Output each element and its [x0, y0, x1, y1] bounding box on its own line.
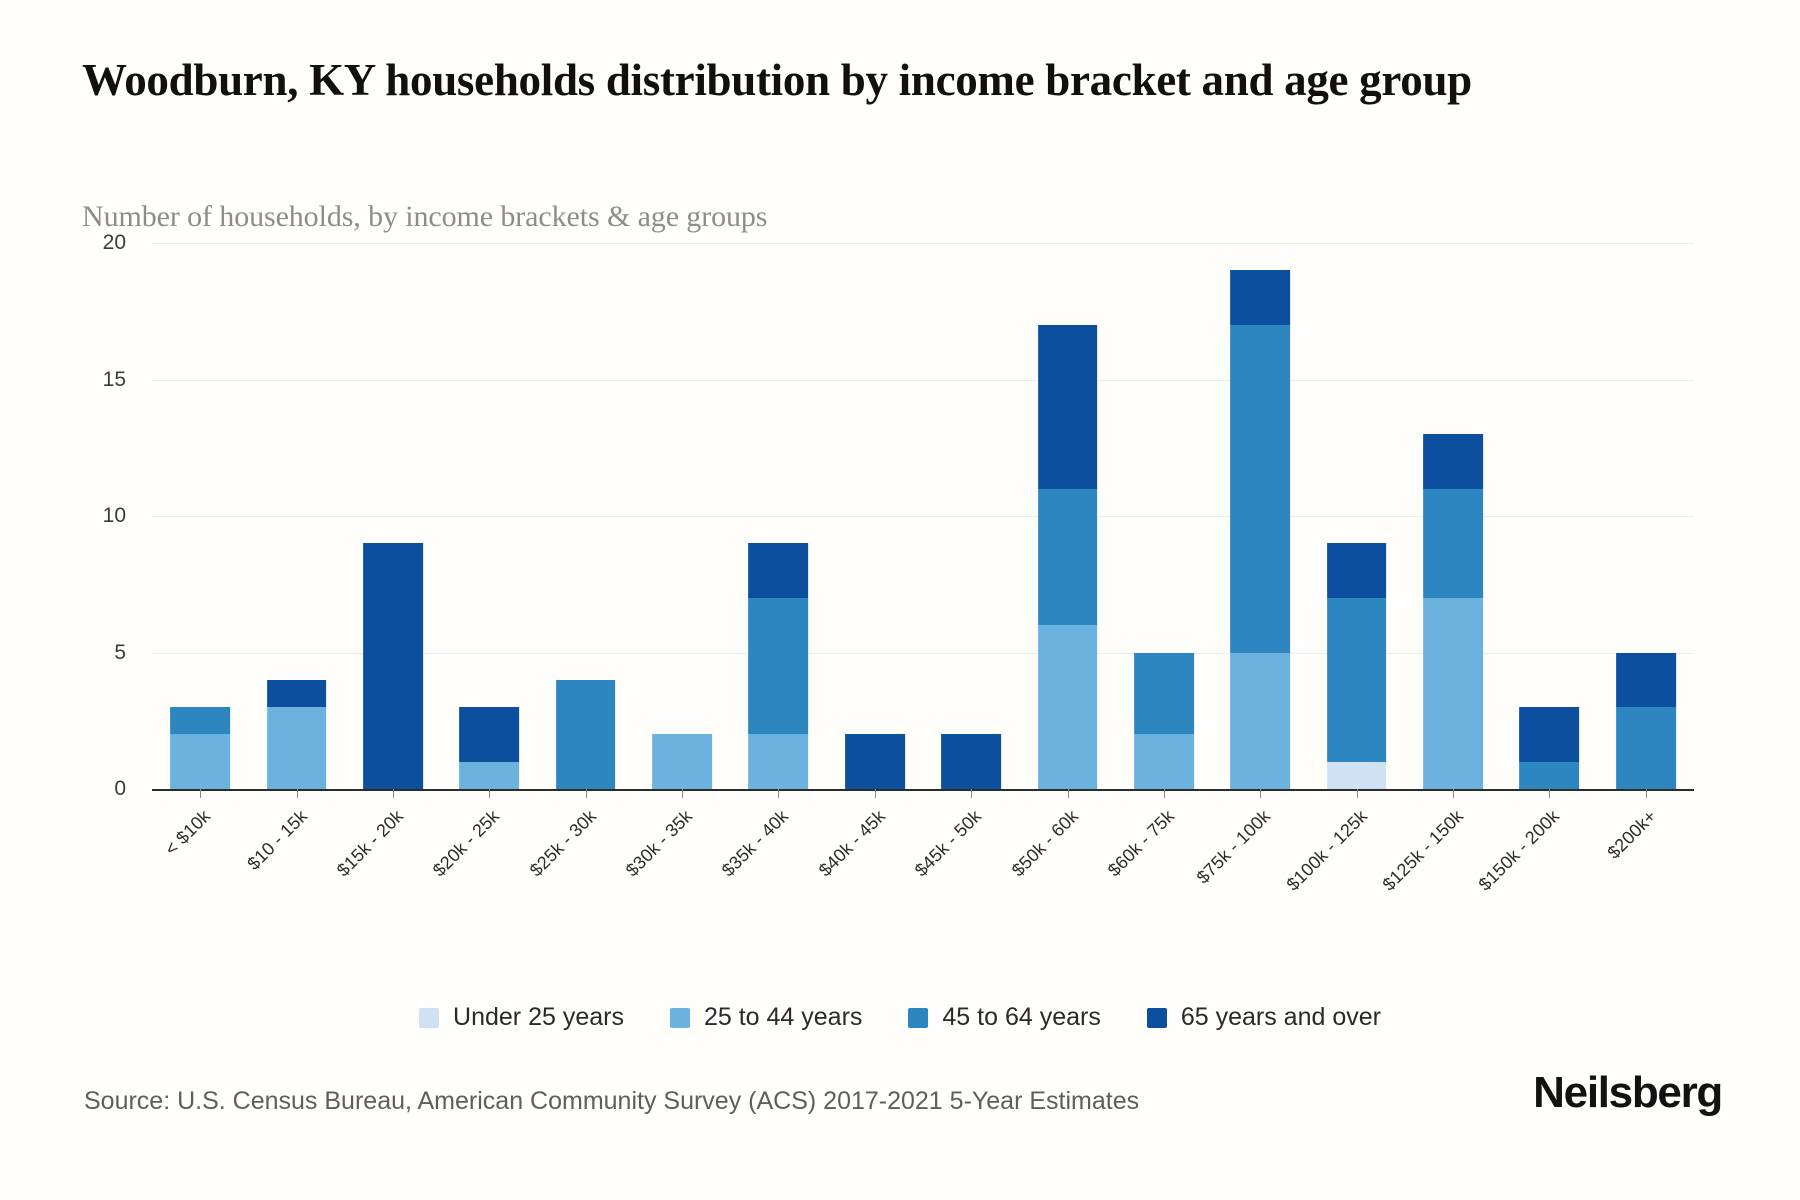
- bar-segment[interactable]: [1327, 543, 1387, 598]
- bar-segment[interactable]: [556, 680, 616, 789]
- x-axis-label-slot: $40k - 45k: [827, 800, 923, 910]
- bar-segment[interactable]: [267, 680, 327, 707]
- legend-label: Under 25 years: [453, 1003, 624, 1032]
- bar-segment[interactable]: [1134, 653, 1194, 735]
- y-tick-label: 0: [114, 777, 126, 801]
- x-axis-label: $20k - 25k: [429, 806, 504, 881]
- x-axis-label-slot: $45k - 50k: [923, 800, 1019, 910]
- bar-group[interactable]: [248, 243, 344, 789]
- bar-segment[interactable]: [1230, 270, 1290, 325]
- bar-stack[interactable]: [1616, 653, 1676, 789]
- bar-segment[interactable]: [1038, 625, 1098, 789]
- x-axis-label-slot: $20k - 25k: [441, 800, 537, 910]
- x-axis-label: $30k - 35k: [622, 806, 697, 881]
- legend-label: 65 years and over: [1181, 1003, 1381, 1032]
- bar-segment[interactable]: [652, 734, 712, 789]
- x-axis-labels: < $10k$10 - 15k$15k - 20k$20k - 25k$25k …: [152, 800, 1694, 910]
- bar-segment[interactable]: [1616, 653, 1676, 708]
- source-note: Source: U.S. Census Bureau, American Com…: [84, 1087, 1139, 1116]
- legend-swatch-icon: [670, 1008, 690, 1028]
- bar-segment[interactable]: [1134, 734, 1194, 789]
- y-tick-label: 10: [103, 504, 126, 528]
- bar-segment[interactable]: [363, 543, 423, 789]
- legend-item[interactable]: 25 to 44 years: [670, 1003, 862, 1032]
- bar-segment[interactable]: [749, 598, 809, 735]
- bar-segment[interactable]: [267, 707, 327, 789]
- bar-segment[interactable]: [459, 762, 519, 789]
- bar-stack[interactable]: [170, 707, 230, 789]
- bar-stack[interactable]: [1327, 543, 1387, 789]
- x-axis-label: < $10k: [161, 806, 215, 860]
- legend-swatch-icon: [1147, 1008, 1167, 1028]
- x-axis-label: $35k - 40k: [718, 806, 793, 881]
- bar-group[interactable]: [923, 243, 1019, 789]
- bar-segment[interactable]: [749, 543, 809, 598]
- x-axis-label: $15k - 20k: [333, 806, 408, 881]
- x-axis-label-slot: $50k - 60k: [1019, 800, 1115, 910]
- chart-page: Woodburn, KY households distribution by …: [0, 0, 1800, 1200]
- bar-segment[interactable]: [1230, 653, 1290, 790]
- chart-legend: Under 25 years25 to 44 years45 to 64 yea…: [0, 1003, 1800, 1032]
- bar-segment[interactable]: [1616, 707, 1676, 789]
- bar-group[interactable]: [441, 243, 537, 789]
- bar-segment[interactable]: [1423, 598, 1483, 789]
- bar-segment[interactable]: [459, 707, 519, 762]
- bar-stack[interactable]: [652, 734, 712, 789]
- bar-stack[interactable]: [1230, 270, 1290, 789]
- legend-item[interactable]: 45 to 64 years: [908, 1003, 1100, 1032]
- y-axis-labels: 05101520: [0, 243, 140, 789]
- bar-group[interactable]: [1309, 243, 1405, 789]
- legend-swatch-icon: [419, 1008, 439, 1028]
- bar-segment[interactable]: [1230, 325, 1290, 653]
- page-title: Woodburn, KY households distribution by …: [82, 52, 1642, 110]
- x-axis-label-slot: $75k - 100k: [1212, 800, 1308, 910]
- x-axis-label-slot: $100k - 125k: [1309, 800, 1405, 910]
- bar-group[interactable]: [730, 243, 826, 789]
- x-axis-label: $45k - 50k: [911, 806, 986, 881]
- bar-stack[interactable]: [1038, 325, 1098, 789]
- bar-stack[interactable]: [556, 680, 616, 789]
- bar-segment[interactable]: [1520, 762, 1580, 789]
- legend-swatch-icon: [908, 1008, 928, 1028]
- bar-stack[interactable]: [1134, 653, 1194, 789]
- x-axis-label-slot: $150k - 200k: [1501, 800, 1597, 910]
- bar-stack[interactable]: [941, 734, 1001, 789]
- y-tick-label: 15: [103, 368, 126, 392]
- bar-segment[interactable]: [1327, 598, 1387, 762]
- bar-group[interactable]: [1019, 243, 1115, 789]
- bar-segment[interactable]: [1038, 489, 1098, 626]
- x-axis-label: $10 - 15k: [243, 806, 312, 875]
- chart-subtitle: Number of households, by income brackets…: [82, 200, 1482, 234]
- x-axis-label-slot: < $10k: [152, 800, 248, 910]
- bar-stack[interactable]: [459, 707, 519, 789]
- bar-segment[interactable]: [1327, 762, 1387, 789]
- bar-stack[interactable]: [1423, 434, 1483, 789]
- legend-item[interactable]: Under 25 years: [419, 1003, 624, 1032]
- brand-logo: Neilsberg: [1533, 1068, 1722, 1118]
- bar-group[interactable]: [1212, 243, 1308, 789]
- x-axis-label: $200k+: [1603, 806, 1660, 863]
- bar-segment[interactable]: [170, 734, 230, 789]
- legend-label: 25 to 44 years: [704, 1003, 862, 1032]
- bar-group[interactable]: [634, 243, 730, 789]
- bar-group[interactable]: [1116, 243, 1212, 789]
- bar-group[interactable]: [538, 243, 634, 789]
- plot-area: [152, 243, 1694, 789]
- bar-stack[interactable]: [845, 734, 905, 789]
- bar-group[interactable]: [827, 243, 923, 789]
- bar-group[interactable]: [345, 243, 441, 789]
- x-axis-label: $25k - 30k: [526, 806, 601, 881]
- bar-stack[interactable]: [363, 543, 423, 789]
- bar-group[interactable]: [1501, 243, 1597, 789]
- bar-segment[interactable]: [170, 707, 230, 734]
- x-axis-label-slot: $200k+: [1598, 800, 1694, 910]
- legend-label: 45 to 64 years: [942, 1003, 1100, 1032]
- bar-segment[interactable]: [1520, 707, 1580, 762]
- x-axis-label: $50k - 60k: [1007, 806, 1082, 881]
- x-axis-label: $40k - 45k: [815, 806, 890, 881]
- bar-segment[interactable]: [1038, 325, 1098, 489]
- bar-group[interactable]: [1405, 243, 1501, 789]
- x-axis-label-slot: $60k - 75k: [1116, 800, 1212, 910]
- legend-item[interactable]: 65 years and over: [1147, 1003, 1381, 1032]
- bar-segment[interactable]: [749, 734, 809, 789]
- bar-group[interactable]: [152, 243, 248, 789]
- x-axis-label-slot: $25k - 30k: [538, 800, 634, 910]
- x-axis-label-slot: $30k - 35k: [634, 800, 730, 910]
- x-axis-label-slot: $10 - 15k: [248, 800, 344, 910]
- bar-segment[interactable]: [1423, 489, 1483, 598]
- bar-stack[interactable]: [1520, 707, 1580, 789]
- y-tick-label: 5: [114, 641, 126, 665]
- bar-series-container: [152, 243, 1694, 789]
- y-tick-label: 20: [103, 231, 126, 255]
- x-axis-label-slot: $35k - 40k: [730, 800, 826, 910]
- bar-segment[interactable]: [845, 734, 905, 789]
- bar-segment[interactable]: [941, 734, 1001, 789]
- x-axis-label-slot: $15k - 20k: [345, 800, 441, 910]
- bar-group[interactable]: [1598, 243, 1694, 789]
- bar-segment[interactable]: [1423, 434, 1483, 489]
- bar-stack[interactable]: [267, 680, 327, 789]
- x-axis-label: $60k - 75k: [1104, 806, 1179, 881]
- bar-stack[interactable]: [749, 543, 809, 789]
